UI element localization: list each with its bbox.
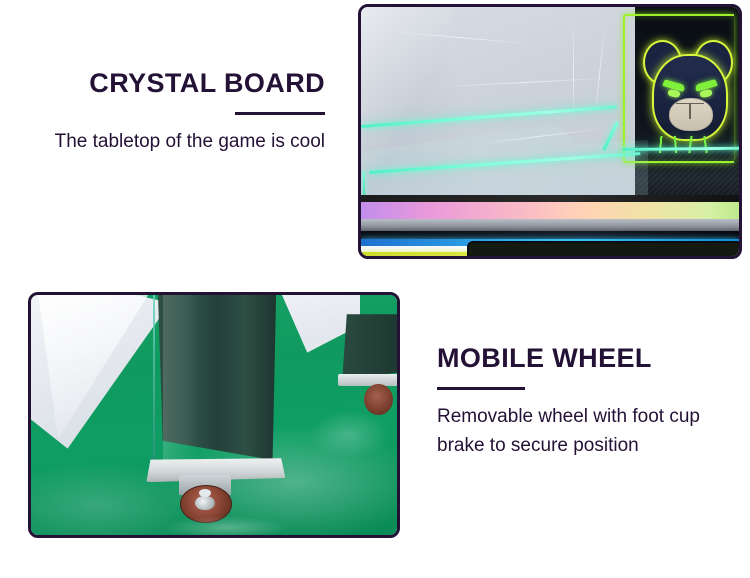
cabinet-shadow-line (361, 195, 739, 202)
foot-cup-secondary (338, 374, 397, 386)
bear-eye-left (667, 89, 680, 98)
mobile-wheel-scene (31, 295, 397, 535)
crystal-board-photo (358, 4, 742, 259)
crystal-board-scene (361, 7, 739, 256)
mobile-wheel-text-block: MOBILE WHEEL Removable wheel with foot c… (437, 345, 717, 461)
mobile-wheel-description: Removable wheel with foot cup brake to s… (437, 403, 717, 461)
crystal-board-text-block: CRYSTAL BOARD The tabletop of the game i… (40, 70, 325, 157)
bear-eye-right (699, 89, 712, 98)
caster-wheel-primary (174, 475, 236, 521)
leg-highlight (163, 295, 200, 463)
neon-bear-sign (643, 24, 734, 153)
mobile-wheel-divider (437, 387, 525, 390)
feature-panel: CRYSTAL BOARD The tabletop of the game i… (0, 0, 750, 578)
cabinet-trim-band (361, 219, 739, 231)
bear-snout-line (689, 104, 691, 119)
caster-bolt (199, 489, 211, 497)
cabinet-dark-band (361, 231, 739, 239)
machine-leg-secondary (342, 314, 397, 381)
caster-hub (195, 496, 215, 511)
neon-grass-tufts (655, 136, 722, 153)
bear-mascot-icon (646, 40, 729, 144)
floor-reflection (163, 516, 287, 535)
crystal-board-title: CRYSTAL BOARD (40, 70, 325, 97)
crystal-board-description: The tabletop of the game is cool (40, 128, 325, 157)
cabinet-inner-frame (467, 241, 739, 256)
mobile-wheel-photo (28, 292, 400, 538)
rainbow-light-strip (361, 202, 739, 218)
mobile-wheel-title: MOBILE WHEEL (437, 345, 717, 372)
crystal-board-divider (235, 112, 325, 115)
floor-reflection (309, 410, 390, 458)
bear-head (652, 54, 728, 141)
leg-edge-highlight (153, 295, 155, 463)
